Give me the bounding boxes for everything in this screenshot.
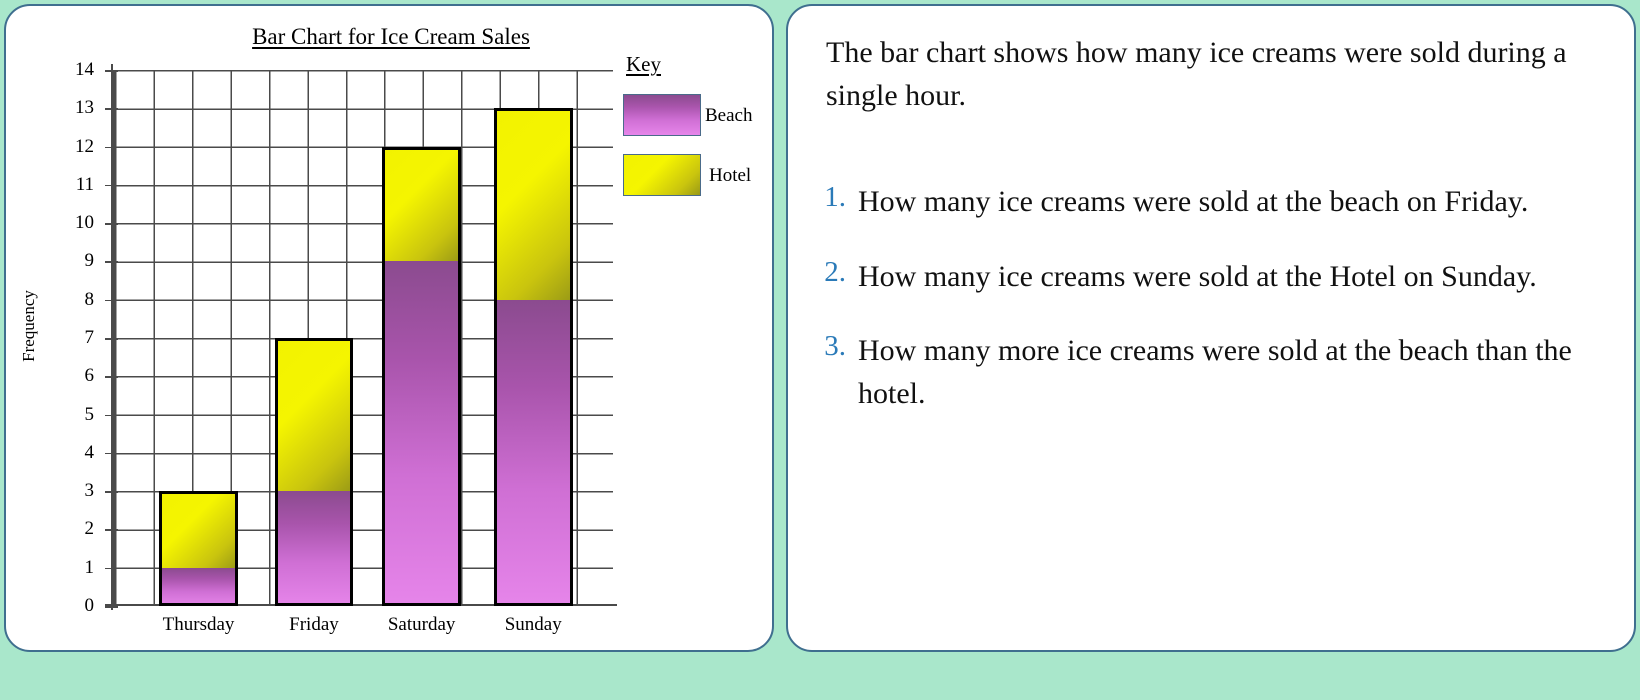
bar-segment-hotel bbox=[159, 491, 238, 568]
question-number: 2. bbox=[812, 256, 846, 289]
y-tick-label: 8 bbox=[52, 290, 94, 309]
question-text: How many ice creams were sold at the bea… bbox=[858, 181, 1602, 224]
y-tick-mark bbox=[105, 185, 118, 187]
y-tick-label: 13 bbox=[52, 98, 94, 117]
y-tick-mark bbox=[105, 376, 118, 378]
legend-label-hotel: Hotel bbox=[709, 165, 751, 187]
y-tick-label: 12 bbox=[52, 137, 94, 156]
y-tick-mark bbox=[105, 147, 118, 149]
y-tick-mark bbox=[105, 338, 118, 340]
question-text: How many more ice creams were sold at th… bbox=[858, 330, 1602, 415]
legend-title: Key bbox=[626, 52, 661, 77]
y-tick-mark bbox=[105, 108, 118, 110]
y-tick-mark bbox=[105, 529, 118, 531]
y-tick-mark bbox=[105, 223, 118, 225]
question-item: 1.How many ice creams were sold at the b… bbox=[812, 181, 1602, 224]
bar-segment-beach bbox=[382, 261, 461, 606]
y-tick-label: 9 bbox=[52, 251, 94, 270]
y-tick-mark bbox=[105, 453, 118, 455]
y-tick-label: 1 bbox=[52, 558, 94, 577]
legend-title-text: Key bbox=[626, 52, 661, 76]
y-tick-label: 2 bbox=[52, 519, 94, 538]
x-tick-label: Sunday bbox=[453, 614, 613, 636]
y-tick-label: 0 bbox=[52, 596, 94, 615]
bar-thursday bbox=[159, 491, 238, 606]
bar-friday bbox=[275, 338, 354, 606]
y-tick-mark bbox=[105, 568, 118, 570]
chart-panel: Bar Chart for Ice Cream Sales 0123456789… bbox=[4, 4, 774, 652]
slide-root: Bar Chart for Ice Cream Sales 0123456789… bbox=[0, 0, 1640, 700]
y-tick-mark bbox=[105, 606, 118, 608]
bar-segment-beach bbox=[494, 300, 573, 606]
y-tick-mark bbox=[105, 415, 118, 417]
intro-paragraph: The bar chart shows how many ice creams … bbox=[826, 32, 1586, 117]
y-tick-mark bbox=[105, 491, 118, 493]
questions-list: 1.How many ice creams were sold at the b… bbox=[812, 181, 1602, 447]
y-tick-label: 7 bbox=[52, 328, 94, 347]
bar-segment-hotel bbox=[382, 147, 461, 262]
y-tick-label: 6 bbox=[52, 366, 94, 385]
question-item: 2.How many ice creams were sold at the H… bbox=[812, 256, 1602, 299]
legend-swatch-beach bbox=[623, 94, 701, 136]
legend-label-beach: Beach bbox=[705, 105, 752, 127]
y-tick-label: 11 bbox=[52, 175, 94, 194]
bar-segment-hotel bbox=[494, 108, 573, 299]
chart-title: Bar Chart for Ice Cream Sales bbox=[6, 24, 776, 50]
legend-swatch-hotel bbox=[623, 154, 701, 196]
y-axis-title: Frequency bbox=[19, 256, 39, 396]
y-tick-mark bbox=[105, 300, 118, 302]
question-number: 3. bbox=[812, 330, 846, 363]
y-tick-mark bbox=[105, 70, 118, 72]
bar-segment-beach bbox=[159, 568, 238, 606]
question-item: 3.How many more ice creams were sold at … bbox=[812, 330, 1602, 415]
y-tick-label: 10 bbox=[52, 213, 94, 232]
bar-segment-hotel bbox=[275, 338, 354, 491]
question-panel: The bar chart shows how many ice creams … bbox=[786, 4, 1636, 652]
question-text: How many ice creams were sold at the Hot… bbox=[858, 256, 1602, 299]
y-tick-label: 5 bbox=[52, 405, 94, 424]
y-tick-label: 3 bbox=[52, 481, 94, 500]
bar-saturday bbox=[382, 147, 461, 606]
y-tick-mark bbox=[105, 261, 118, 263]
y-axis-tick-labels: 01234567891011121314 bbox=[34, 6, 94, 654]
bar-sunday bbox=[494, 108, 573, 606]
y-tick-label: 14 bbox=[52, 60, 94, 79]
chart-title-text: Bar Chart for Ice Cream Sales bbox=[252, 24, 530, 49]
bar-segment-beach bbox=[275, 491, 354, 606]
y-tick-label: 4 bbox=[52, 443, 94, 462]
question-number: 1. bbox=[812, 181, 846, 214]
